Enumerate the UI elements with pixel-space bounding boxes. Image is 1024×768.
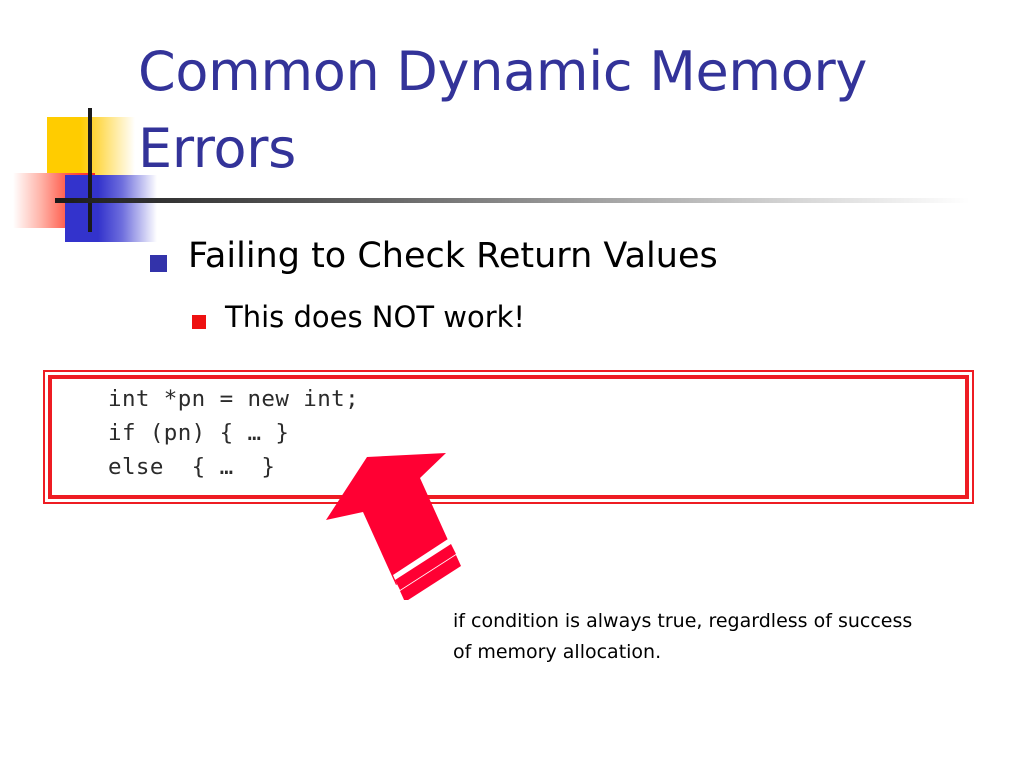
bullet-item-level1-label: Failing to Check Return Values: [188, 236, 718, 277]
arrow-caption-text: if condition is always true, regardless …: [453, 606, 923, 668]
callout-arrow-icon: [300, 440, 490, 600]
bullet-item-level2: This does NOT work!: [192, 300, 525, 334]
callout-arrow: [300, 440, 490, 600]
vertical-line-icon: [88, 108, 92, 232]
blue-square-icon: [65, 175, 157, 242]
bullet-item-level2-label: This does NOT work!: [225, 300, 525, 334]
bullet-item-level1: Failing to Check Return Values: [150, 236, 718, 277]
slide-canvas: Common Dynamic Memory Errors Failing to …: [0, 0, 1024, 768]
title-divider: [55, 198, 970, 203]
decorative-logo-mark: [0, 95, 180, 245]
sub-bullet-square-icon: [192, 315, 206, 329]
page-title: Common Dynamic Memory Errors: [138, 34, 968, 187]
bullet-square-icon: [150, 255, 167, 272]
